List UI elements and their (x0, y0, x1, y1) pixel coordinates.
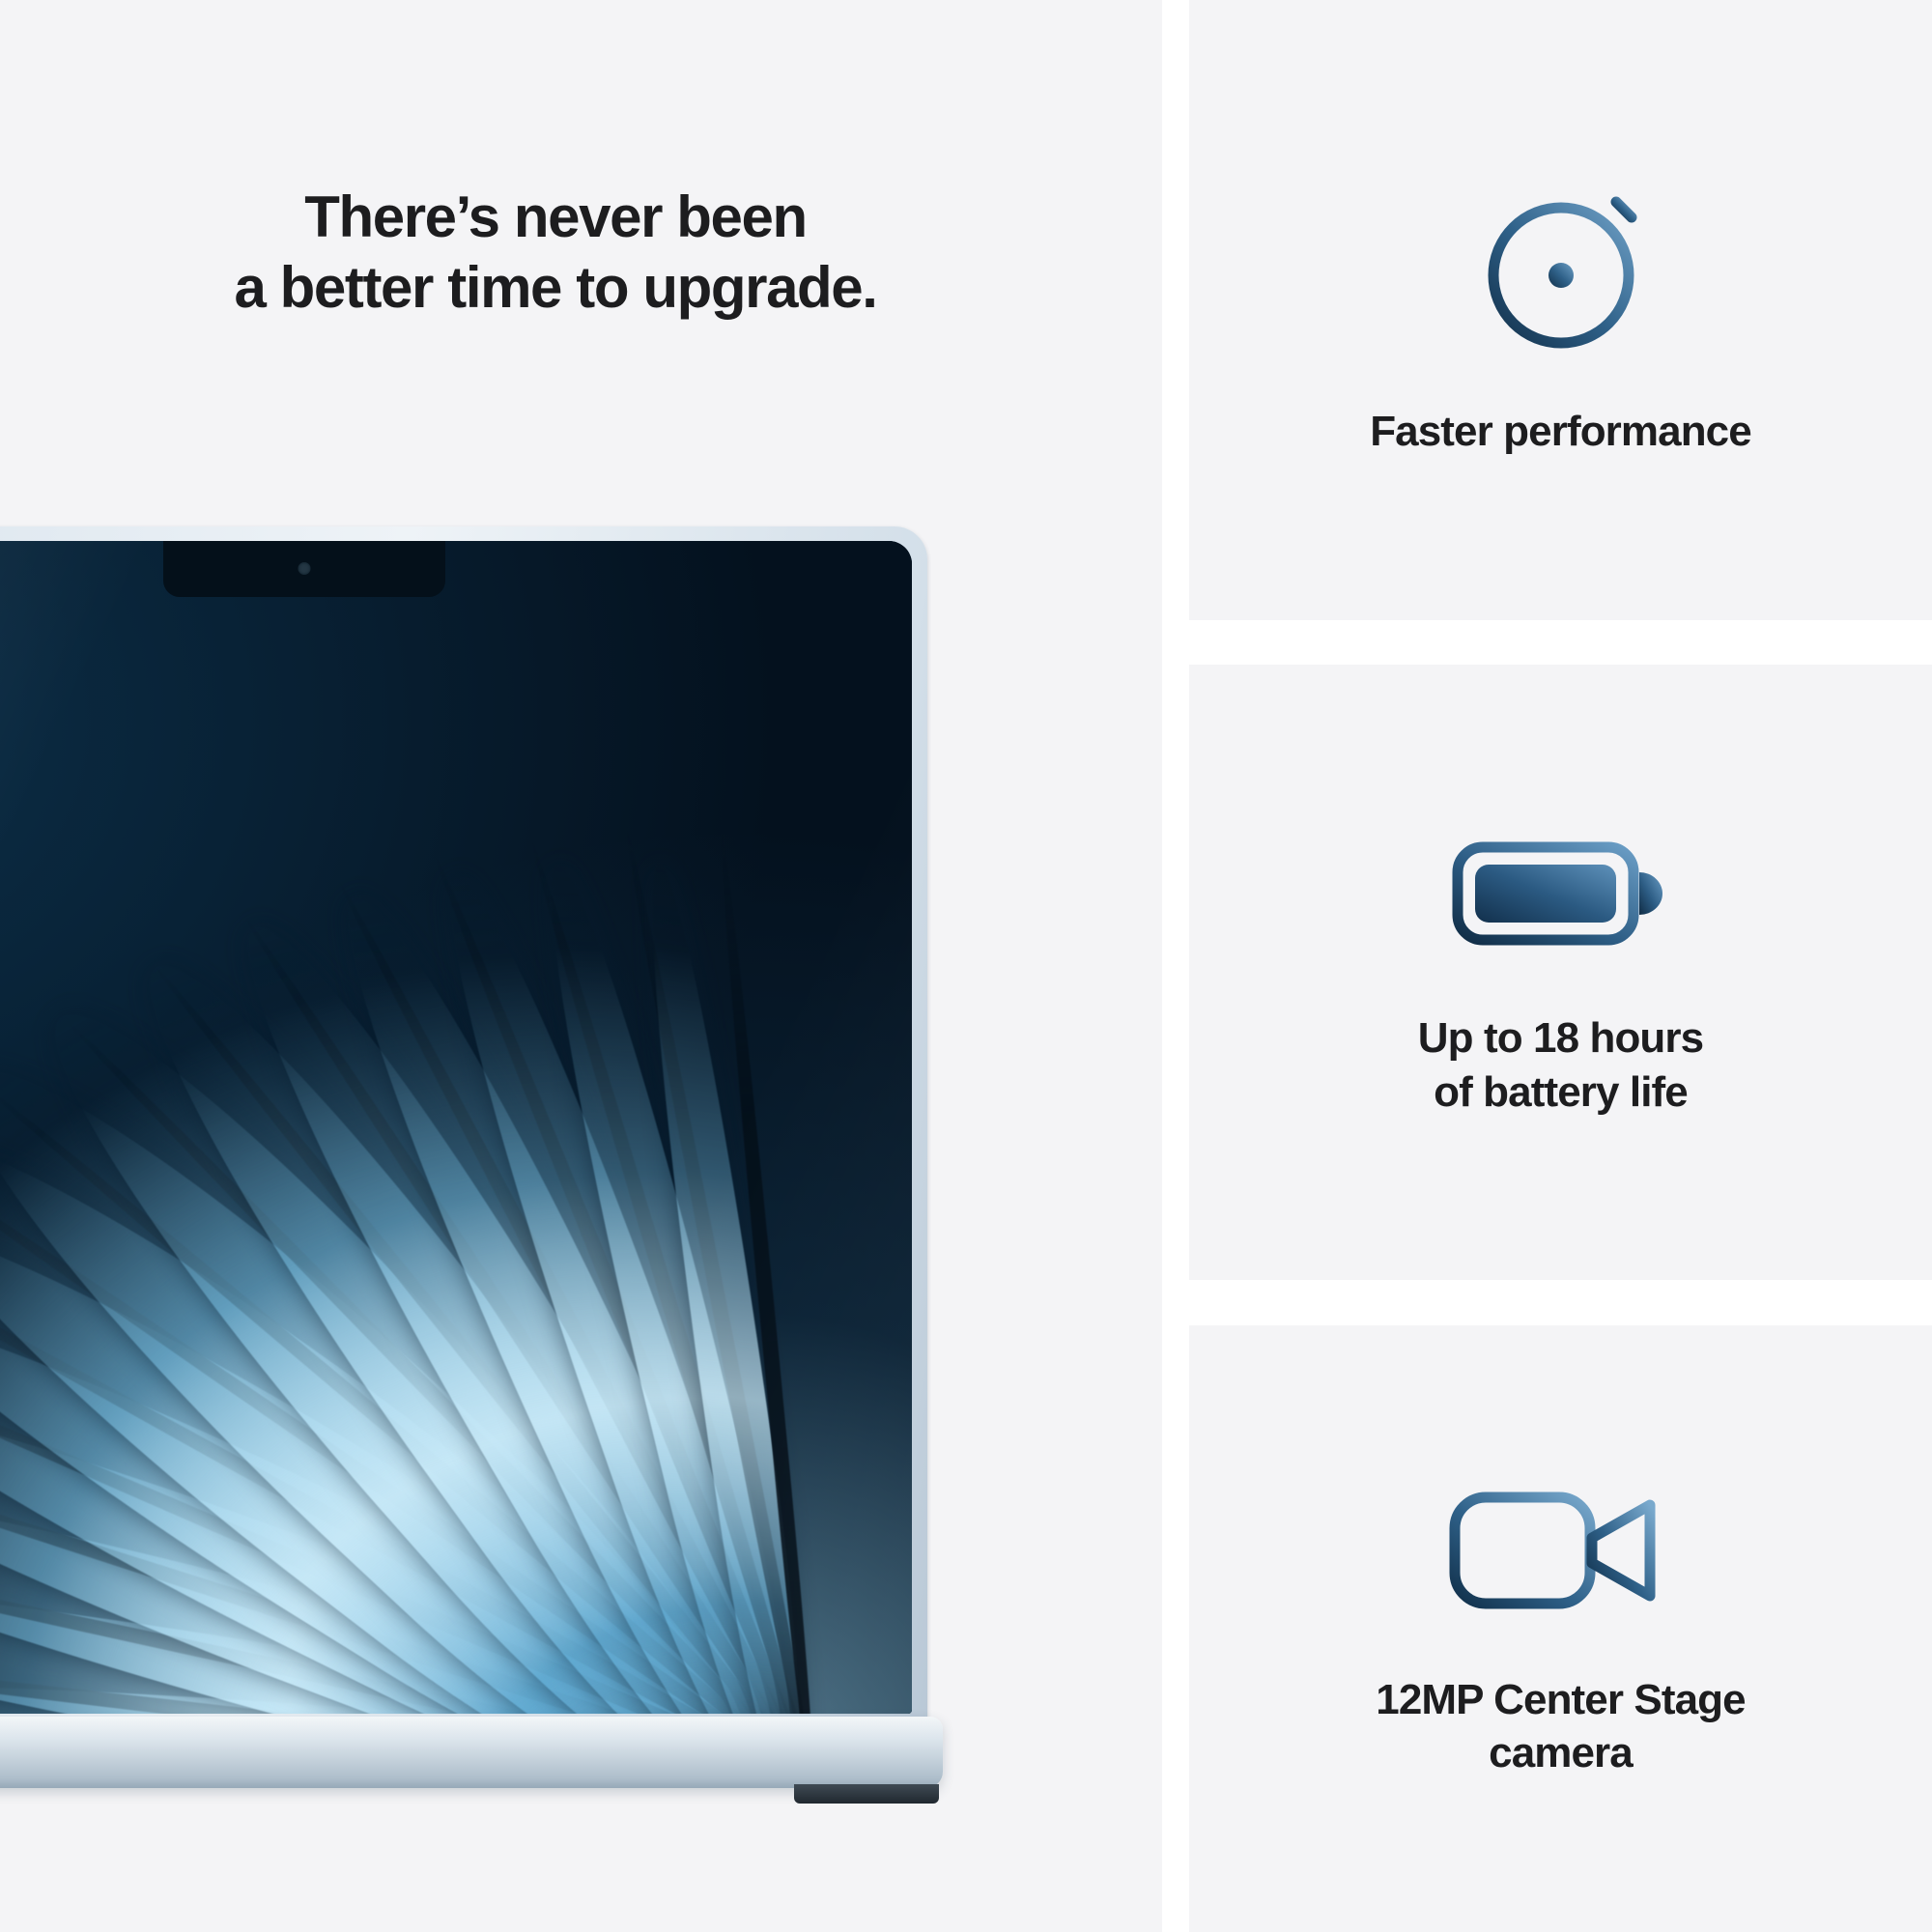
webcam-icon (298, 562, 311, 575)
feature-card-battery-life[interactable]: Up to 18 hours of battery life (1189, 665, 1932, 1280)
battery-icon (1450, 826, 1672, 961)
page-title: There’s never been a better time to upgr… (0, 182, 1111, 323)
feature-label: Faster performance (1370, 405, 1751, 458)
macbook-base (0, 1717, 943, 1788)
macbook-screen (0, 541, 912, 1714)
feature-label-line-1: Faster performance (1370, 405, 1751, 458)
feature-label-line-1: 12MP Center Stage (1376, 1673, 1745, 1726)
headline-line-2: a better time to upgrade. (0, 252, 1111, 323)
vertical-divider (1162, 0, 1189, 1932)
feature-label: Up to 18 hours of battery life (1418, 1011, 1703, 1119)
feature-label-line-2: camera (1376, 1726, 1745, 1779)
feature-card-center-stage-camera[interactable]: 12MP Center Stage camera (1189, 1325, 1932, 1932)
feature-label-line-2: of battery life (1418, 1065, 1703, 1119)
feature-label-line-1: Up to 18 hours (1418, 1011, 1703, 1065)
macbook-foot (794, 1784, 939, 1804)
hero-panel: There’s never been a better time to upgr… (0, 0, 1162, 1932)
feature-card-list: Faster performance (1189, 0, 1932, 1932)
product-feature-page: There’s never been a better time to upgr… (0, 0, 1932, 1932)
stopwatch-icon (1469, 161, 1653, 355)
feature-label: 12MP Center Stage camera (1376, 1673, 1745, 1780)
video-camera-icon (1445, 1478, 1677, 1623)
headline-line-1: There’s never been (0, 182, 1111, 252)
macbook-product-image (0, 526, 927, 1744)
macbook-lid (0, 526, 927, 1729)
feature-card-faster-performance[interactable]: Faster performance (1189, 0, 1932, 620)
